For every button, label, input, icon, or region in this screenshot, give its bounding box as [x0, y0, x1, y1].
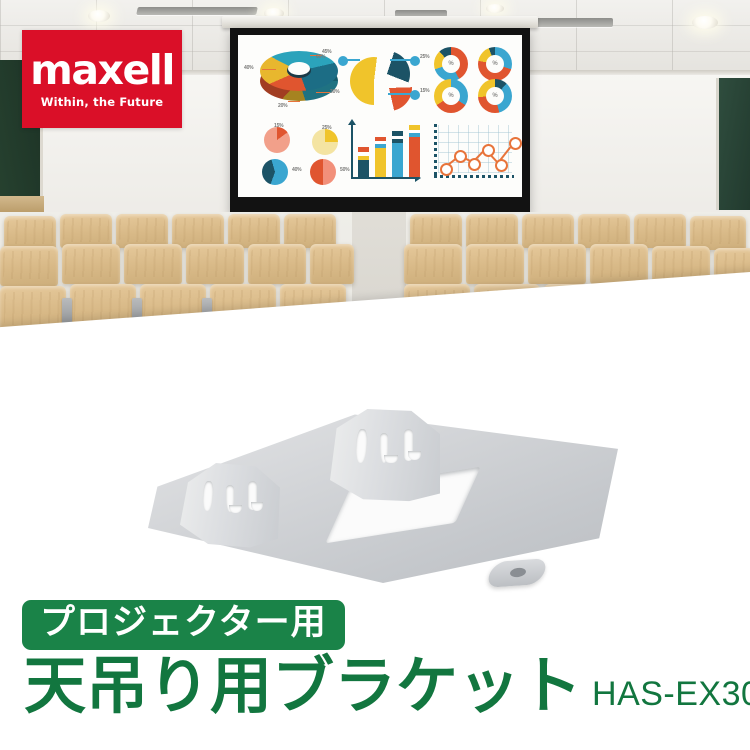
line-node — [495, 159, 508, 172]
seat — [0, 246, 58, 286]
seat — [590, 244, 648, 284]
ring-chart: % — [434, 79, 468, 113]
bar-column — [358, 147, 369, 177]
ceiling-light — [88, 10, 110, 22]
chart-small-pie-group — [260, 125, 350, 185]
small-pie — [262, 159, 288, 185]
donut-3d-hole — [288, 62, 310, 75]
seat — [62, 244, 120, 284]
small-pie — [310, 159, 336, 185]
chart-label: 25% — [322, 125, 331, 131]
screen-housing — [222, 16, 538, 28]
bar-column — [375, 137, 386, 177]
logo-wordmark: maxell — [30, 50, 174, 91]
bar-column — [392, 131, 403, 177]
line-node — [482, 144, 495, 157]
ceiling-vent — [136, 7, 258, 15]
ceiling-light — [692, 16, 718, 29]
ring-label: % — [442, 87, 460, 105]
ring-chart: % — [434, 47, 468, 81]
chart-label: 60% — [316, 54, 325, 60]
seat — [4, 216, 56, 250]
seat — [528, 244, 586, 284]
ring-chart: % — [478, 79, 512, 113]
screen-surface: 40% 45% 30% 20% 60% — [238, 35, 522, 197]
seat — [116, 214, 168, 248]
seat — [310, 244, 354, 284]
ring-label: % — [442, 55, 460, 73]
callout-dot — [410, 90, 420, 100]
seat — [124, 244, 182, 284]
chart-bar — [348, 123, 420, 185]
leader-line — [288, 101, 300, 102]
chart-label: 15% — [274, 123, 283, 129]
chart-line — [430, 123, 516, 185]
small-pie — [264, 127, 290, 153]
chart-label: 25% — [420, 54, 429, 60]
product-title: 天吊り用ブラケット — [24, 655, 582, 717]
projection-screen: 40% 45% 30% 20% 60% — [230, 26, 530, 222]
ring-chart: % — [478, 47, 512, 81]
seat — [522, 214, 574, 248]
bar-axis-x — [351, 177, 417, 179]
seat — [466, 214, 518, 248]
ceiling-light — [486, 4, 504, 13]
seat — [466, 244, 524, 284]
product-model-number: HAS-EX300 — [592, 677, 750, 717]
axis-arrow-up-icon — [348, 119, 356, 125]
leader-line — [262, 69, 276, 70]
seat — [284, 214, 336, 248]
bar-column — [409, 125, 420, 177]
seat — [228, 214, 280, 248]
product-banner: 40% 45% 30% 20% 60% — [0, 0, 750, 750]
seat — [410, 214, 462, 248]
bar-axis-y — [351, 123, 353, 179]
chart-label: 20% — [278, 103, 287, 109]
line-node — [440, 163, 453, 176]
chart-donut-3d — [260, 51, 338, 103]
infographic: 40% 45% 30% 20% 60% — [238, 35, 522, 197]
line-axis-y — [434, 123, 437, 175]
callout-dot — [410, 56, 420, 66]
leader-line — [316, 92, 330, 93]
callout-line — [390, 59, 412, 61]
category-badge: プロジェクター用 — [22, 600, 345, 650]
title-row: 天吊り用ブラケット HAS-EX300 — [24, 655, 734, 717]
line-node — [509, 137, 522, 150]
logo-tagline: Within, the Future — [41, 97, 164, 109]
line-node — [468, 158, 481, 171]
seat — [186, 244, 244, 284]
seat — [404, 244, 462, 284]
seat — [248, 244, 306, 284]
line-node — [454, 150, 467, 163]
chart-ring-group: % % % % — [434, 47, 516, 113]
product-image-bracket — [140, 405, 630, 610]
ring-label: % — [486, 55, 504, 73]
ring-label: % — [486, 87, 504, 105]
maxell-logo: maxell Within, the Future — [22, 30, 182, 128]
callout-line — [388, 93, 412, 95]
chalkboard-right — [716, 78, 750, 210]
seat — [690, 216, 746, 250]
callout-dot — [338, 56, 348, 66]
chart-label: 30% — [330, 89, 339, 95]
small-pie — [312, 129, 338, 155]
pie-slice — [366, 65, 412, 111]
seat — [172, 214, 224, 248]
seat — [578, 214, 630, 248]
chart-label: 15% — [420, 88, 429, 94]
seat — [634, 214, 686, 248]
seat — [60, 214, 112, 248]
chart-label: 40% — [292, 167, 301, 173]
chart-label: 40% — [244, 65, 253, 71]
